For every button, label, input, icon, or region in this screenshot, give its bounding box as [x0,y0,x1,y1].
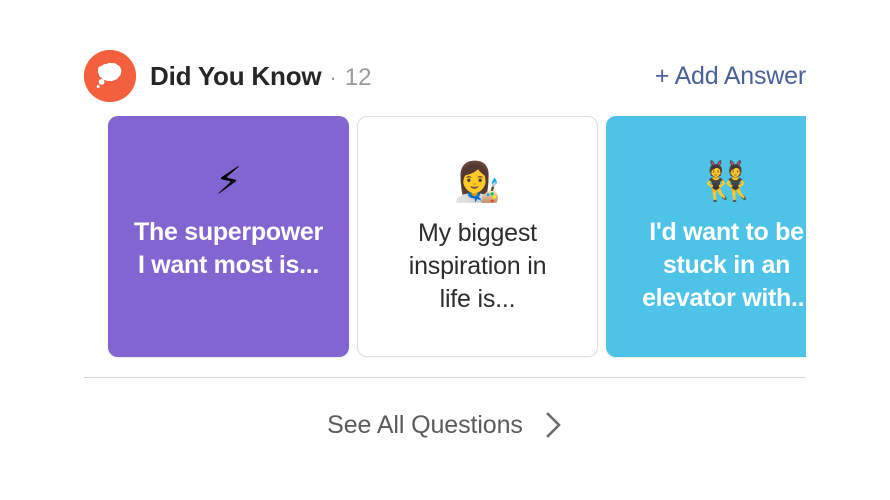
question-card-text: The superpower I want most is... [134,216,323,282]
page-title: Did You Know [150,61,321,92]
question-cards-viewport: ⚡The superpower I want most is...👩‍🎨My b… [0,116,806,358]
title-separator: · [329,65,336,91]
question-card[interactable]: 👩‍🎨My biggest inspiration in life is... [357,116,598,357]
add-answer-button[interactable]: + Add Answer [655,62,806,91]
header-title-group: Did You Know · 12 [84,50,371,102]
high-voltage-icon: ⚡ [215,160,242,204]
question-card-text: My biggest inspiration in life is... [409,217,547,316]
question-card-text: I'd want to be stuck in an elevator with… [642,216,806,315]
people-with-bunny-ears-icon: 👯 [703,160,750,204]
did-you-know-widget: Did You Know · 12 + Add Answer ⚡The supe… [0,0,890,500]
see-all-questions-label: See All Questions [327,411,523,440]
question-card[interactable]: ⚡The superpower I want most is... [108,116,349,357]
answer-count: 12 [345,64,372,92]
widget-header: Did You Know · 12 + Add Answer [84,46,806,106]
speech-bubble-icon [84,50,136,102]
question-cards-rail[interactable]: ⚡The superpower I want most is...👩‍🎨My b… [108,116,806,358]
chevron-right-icon [545,411,563,439]
artist-icon: 👩‍🎨 [454,161,501,205]
question-card[interactable]: 👯I'd want to be stuck in an elevator wit… [606,116,806,357]
see-all-questions-button[interactable]: See All Questions [84,395,806,455]
header-title-text: Did You Know · 12 [150,61,371,92]
section-divider [84,377,806,378]
